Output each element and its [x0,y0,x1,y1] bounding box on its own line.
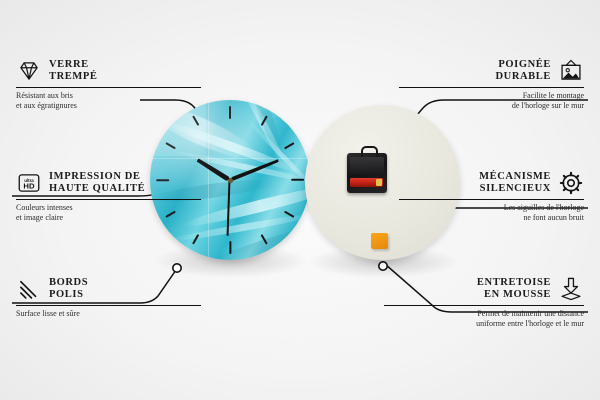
polished-edges-icon [16,276,42,302]
feature-impression-haute-qualite[interactable]: ultra HD IMPRESSION DE HAUTE QUALITÉ Cou… [16,170,201,223]
feature-title: ENTRETOISE EN MOUSSE [477,277,551,302]
feature-description: Résistant aux bris et aux égratignures [16,91,201,111]
feature-title: IMPRESSION DE HAUTE QUALITÉ [49,171,145,196]
feature-poignee-durable[interactable]: POIGNÉE DURABLE Facilite le montage de l… [399,58,584,111]
feature-header: POIGNÉE DURABLE [399,58,584,84]
hanger-handle-icon [361,146,378,157]
feature-title: POIGNÉE DURABLE [495,59,551,84]
divider [399,87,584,88]
feature-description: Les aiguilles de l'horloge ne font aucun… [399,203,584,223]
divider [399,199,584,200]
foam-spacer-arrow-icon [558,276,584,302]
divider [16,87,201,88]
feature-title: VERRE TREMPÉ [49,59,98,84]
gear-icon [558,170,584,196]
feature-entretoise-en-mousse[interactable]: ENTRETOISE EN MOUSSE Permet de maintenir… [384,276,584,329]
divider [384,305,584,306]
feature-header: ENTRETOISE EN MOUSSE [384,276,584,302]
divider [16,199,201,200]
feature-header: MÉCANISME SILENCIEUX [399,170,584,196]
feature-title: MÉCANISME SILENCIEUX [479,171,551,196]
mechanism-housing [350,157,384,174]
clock-mechanism[interactable] [347,153,387,193]
feature-description: Couleurs intenses et image claire [16,203,201,223]
feature-header: VERRE TREMPÉ [16,58,201,84]
feature-title: BORDS POLIS [49,277,88,302]
feature-description: Facilite le montage de l'horloge sur le … [399,91,584,111]
feature-mecanisme-silencieux[interactable]: MÉCANISME SILENCIEUX [399,170,584,223]
divider [16,305,201,306]
battery-terminal [376,179,382,186]
ultra-hd-icon: ultra HD [16,170,42,196]
feature-header: BORDS POLIS [16,276,201,302]
feature-description: Surface lisse et sûre [16,309,201,319]
feature-verre-trempe[interactable]: VERRE TREMPÉ Résistant aux bris et aux é… [16,58,201,111]
feature-bords-polis[interactable]: BORDS POLIS Surface lisse et sûre [16,276,201,319]
foam-spacer [371,233,388,249]
picture-frame-hanger-icon [558,58,584,84]
battery [350,178,383,187]
diamond-icon [16,58,42,84]
infographic-canvas: VERRE TREMPÉ Résistant aux bris et aux é… [0,0,600,400]
feature-description: Permet de maintenir une distance uniform… [384,309,584,329]
feature-header: ultra HD IMPRESSION DE HAUTE QUALITÉ [16,170,201,196]
svg-text:HD: HD [23,182,35,191]
